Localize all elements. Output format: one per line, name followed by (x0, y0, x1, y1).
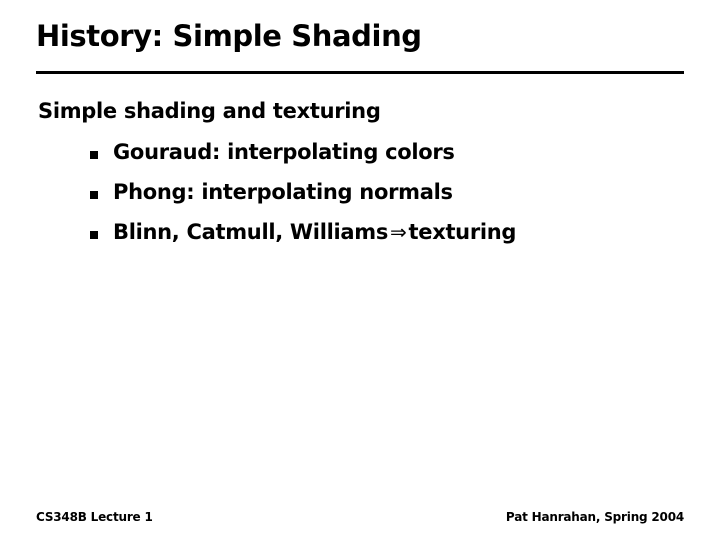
double-right-arrow-icon: ⇒ (388, 220, 408, 244)
bullet-item-label-prefix: Blinn, Catmull, Williams (113, 220, 388, 244)
bullet-list: Gouraud: interpolating colors Phong: int… (0, 138, 720, 258)
bullet-item-label-suffix: texturing (409, 220, 517, 244)
page-title: History: Simple Shading (36, 18, 686, 54)
body-lead-line: Simple shading and texturing (38, 98, 381, 124)
slide-canvas: History: Simple Shading Simple shading a… (0, 0, 720, 540)
square-bullet-icon (90, 231, 98, 239)
square-bullet-icon (90, 151, 98, 159)
footer-author-label: Pat Hanrahan, Spring 2004 (506, 510, 684, 524)
footer-course-label: CS348B Lecture 1 (36, 510, 153, 524)
bullet-item-label: Phong: interpolating normals (113, 178, 453, 206)
bullet-item-label: Gouraud: interpolating colors (113, 138, 455, 166)
list-item: Phong: interpolating normals (0, 178, 720, 218)
bullet-item-label: Blinn, Catmull, Williams⇒texturing (113, 218, 516, 246)
square-bullet-icon (90, 191, 98, 199)
list-item: Blinn, Catmull, Williams⇒texturing (0, 218, 720, 258)
list-item: Gouraud: interpolating colors (0, 138, 720, 178)
slide-footer: CS348B Lecture 1 Pat Hanrahan, Spring 20… (36, 510, 684, 526)
title-divider-rule (36, 71, 684, 74)
